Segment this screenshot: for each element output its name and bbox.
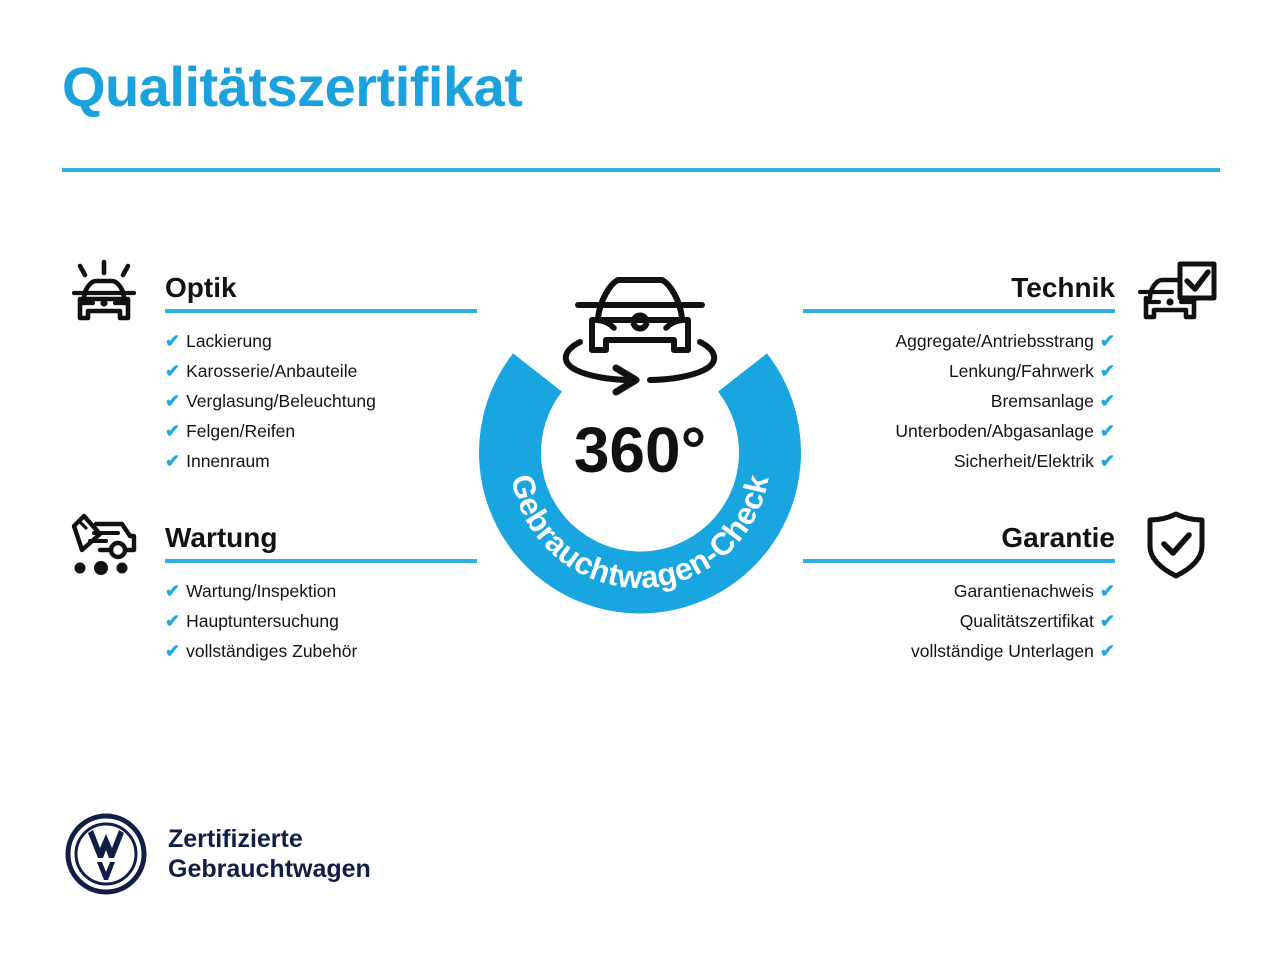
list-item-label: Felgen/Reifen <box>186 421 295 441</box>
list-item: Qualitätszertifikat✔ <box>800 606 1115 636</box>
check-icon: ✔ <box>165 611 180 631</box>
badge-center-label: 360° <box>574 414 706 486</box>
list-item-label: Unterboden/Abgasanlage <box>895 421 1094 441</box>
footer-brand-text: ZertifizierteGebrauchtwagen <box>168 824 371 885</box>
list-item-label: Qualitätszertifikat <box>960 611 1094 631</box>
section-wartung: Wartung ✔Wartung/Inspektion ✔Hauptunters… <box>60 508 480 666</box>
section-garantie: Garantie Garantienachweis✔ Qualitätszert… <box>800 508 1220 666</box>
list-item: ✔vollständiges Zubehör <box>165 636 480 666</box>
list-item-label: Hauptuntersuchung <box>186 611 339 631</box>
check-icon: ✔ <box>165 391 180 411</box>
list-item: ✔Wartung/Inspektion <box>165 576 480 606</box>
list-item-label: vollständiges Zubehör <box>186 641 357 661</box>
section-header-optik: Optik <box>60 258 480 316</box>
badge-360-gebrauchtwagen-check: Gebrauchtwagen-Check 360° <box>464 250 816 632</box>
check-icon: ✔ <box>1100 581 1115 601</box>
header-divider <box>62 168 1220 172</box>
checklist-wartung: ✔Wartung/Inspektion ✔Hauptuntersuchung ✔… <box>60 576 480 666</box>
car-rotation-icon <box>566 280 714 392</box>
check-icon: ✔ <box>165 641 180 661</box>
list-item: Unterboden/Abgasanlage✔ <box>800 416 1115 446</box>
shield-check-icon <box>1132 508 1220 582</box>
footer-line-2: Gebrauchtwagen <box>168 855 371 883</box>
section-header-garantie: Garantie <box>800 508 1220 566</box>
list-item-label: Aggregate/Antriebsstrang <box>895 331 1093 351</box>
section-header-wartung: Wartung <box>60 508 480 566</box>
list-item-label: Wartung/Inspektion <box>186 581 336 601</box>
section-title-wartung: Wartung <box>165 522 278 554</box>
list-item: ✔Felgen/Reifen <box>165 416 480 446</box>
section-optik: Optik ✔Lackierung ✔Karosserie/Anbauteile… <box>60 258 480 476</box>
checklist-garantie: Garantienachweis✔ Qualitätszertifikat✔ v… <box>800 576 1220 666</box>
list-item-label: Lackierung <box>186 331 272 351</box>
footer-logo: ZertifizierteGebrauchtwagen <box>64 812 371 896</box>
list-item-label: Lenkung/Fahrwerk <box>949 361 1094 381</box>
section-underline-garantie <box>803 559 1115 563</box>
list-item: ✔Verglasung/Beleuchtung <box>165 386 480 416</box>
check-icon: ✔ <box>1100 331 1115 351</box>
section-title-garantie: Garantie <box>1001 522 1115 554</box>
section-underline-technik <box>803 309 1115 313</box>
check-icon: ✔ <box>165 361 180 381</box>
section-technik: Technik Aggregate/Antriebsstrang✔ Lenkun… <box>800 258 1220 476</box>
check-icon: ✔ <box>1100 451 1115 471</box>
volkswagen-logo-icon <box>64 812 148 896</box>
list-item-label: Sicherheit/Elektrik <box>954 451 1094 471</box>
list-item: Bremsanlage✔ <box>800 386 1115 416</box>
page-title: Qualitätszertifikat <box>62 58 522 117</box>
list-item: Aggregate/Antriebsstrang✔ <box>800 326 1115 356</box>
checklist-optik: ✔Lackierung ✔Karosserie/Anbauteile ✔Verg… <box>60 326 480 476</box>
section-title-technik: Technik <box>1011 272 1115 304</box>
check-icon: ✔ <box>1100 611 1115 631</box>
check-icon: ✔ <box>1100 641 1115 661</box>
check-icon: ✔ <box>1100 421 1115 441</box>
list-item-label: Karosserie/Anbauteile <box>186 361 357 381</box>
list-item: vollständige Unterlagen✔ <box>800 636 1115 666</box>
section-underline-wartung <box>165 559 477 563</box>
section-underline-optik <box>165 309 477 313</box>
list-item: ✔Lackierung <box>165 326 480 356</box>
check-icon: ✔ <box>1100 361 1115 381</box>
check-icon: ✔ <box>1100 391 1115 411</box>
list-item: Lenkung/Fahrwerk✔ <box>800 356 1115 386</box>
section-title-optik: Optik <box>165 272 237 304</box>
check-icon: ✔ <box>165 331 180 351</box>
list-item-label: vollständige Unterlagen <box>911 641 1094 661</box>
list-item: Garantienachweis✔ <box>800 576 1115 606</box>
section-header-technik: Technik <box>800 258 1220 316</box>
car-front-shine-icon <box>60 258 148 332</box>
list-item-label: Verglasung/Beleuchtung <box>186 391 376 411</box>
list-item: Sicherheit/Elektrik✔ <box>800 446 1115 476</box>
footer-line-1: Zertifizierte <box>168 825 303 853</box>
check-icon: ✔ <box>165 451 180 471</box>
list-item-label: Bremsanlage <box>991 391 1094 411</box>
check-icon: ✔ <box>165 421 180 441</box>
list-item-label: Innenraum <box>186 451 270 471</box>
car-checkbox-icon <box>1132 258 1220 332</box>
pencil-car-service-icon <box>60 508 148 582</box>
list-item: ✔Karosserie/Anbauteile <box>165 356 480 386</box>
check-icon: ✔ <box>165 581 180 601</box>
list-item-label: Garantienachweis <box>954 581 1094 601</box>
checklist-technik: Aggregate/Antriebsstrang✔ Lenkung/Fahrwe… <box>800 326 1220 476</box>
list-item: ✔Hauptuntersuchung <box>165 606 480 636</box>
list-item: ✔Innenraum <box>165 446 480 476</box>
